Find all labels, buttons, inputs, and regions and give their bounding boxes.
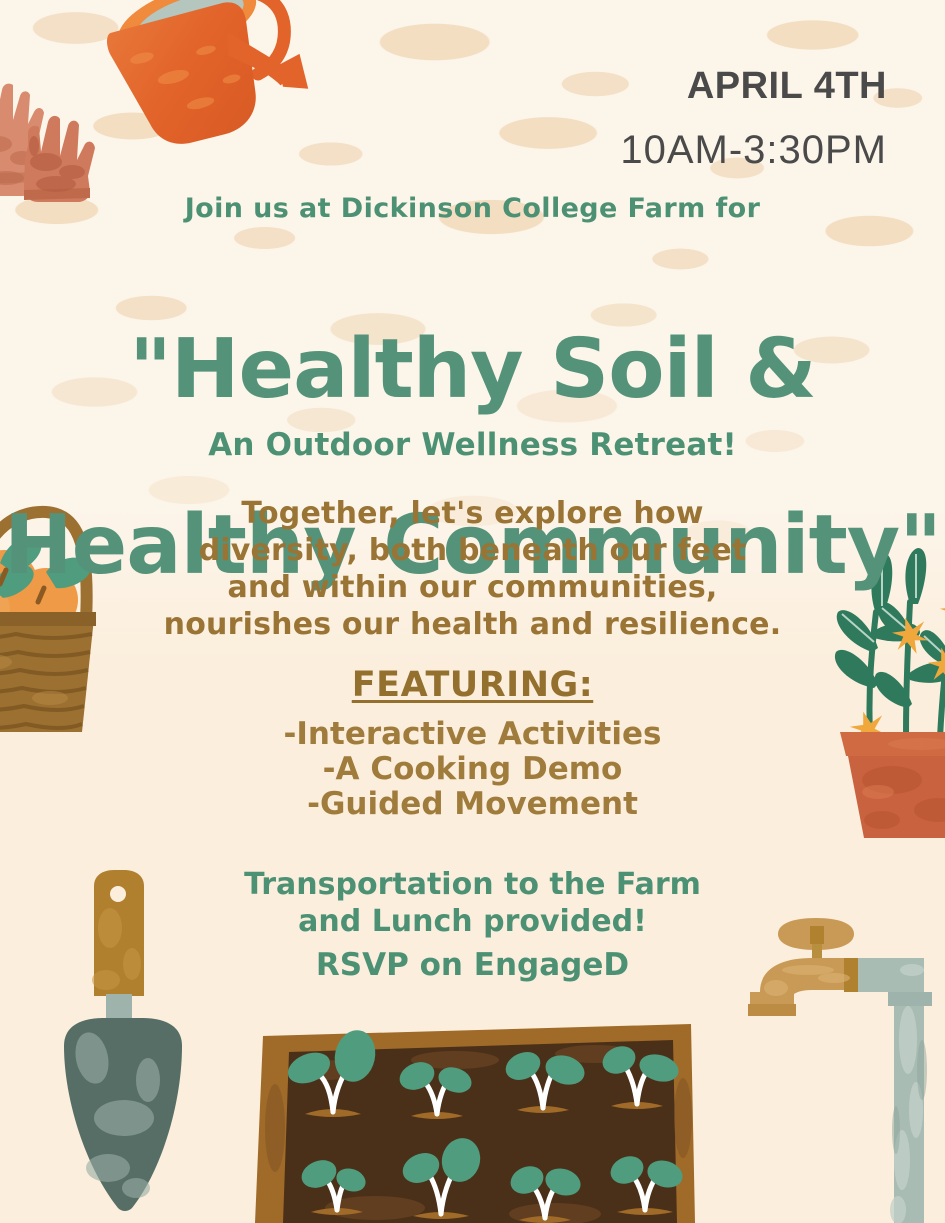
event-date-time-block: APRIL 4TH 10AM-3:30PM — [620, 46, 887, 192]
description-paragraph: Together, let's explore how diversity, b… — [0, 495, 945, 643]
page-title-line-1: "Healthy Soil & — [0, 326, 945, 414]
featuring-heading: FEATURING: — [0, 665, 945, 705]
gardening-gloves-illustration — [0, 78, 122, 198]
poster-canvas: APRIL 4TH 10AM-3:30PM Join us at Dickins… — [0, 0, 945, 1223]
page-subtitle: An Outdoor Wellness Retreat! — [0, 427, 945, 463]
garden-bed-illustration — [255, 1008, 695, 1223]
transportation-note: Transportation to the Farm and Lunch pro… — [0, 866, 945, 940]
rsvp-instruction: RSVP on EngageD — [0, 947, 945, 983]
featuring-list: -Interactive Activities -A Cooking Demo … — [0, 717, 945, 822]
invitation-line: Join us at Dickinson College Farm for — [0, 193, 945, 224]
event-date: APRIL 4TH — [620, 64, 887, 108]
event-time: 10AM-3:30PM — [620, 126, 887, 174]
